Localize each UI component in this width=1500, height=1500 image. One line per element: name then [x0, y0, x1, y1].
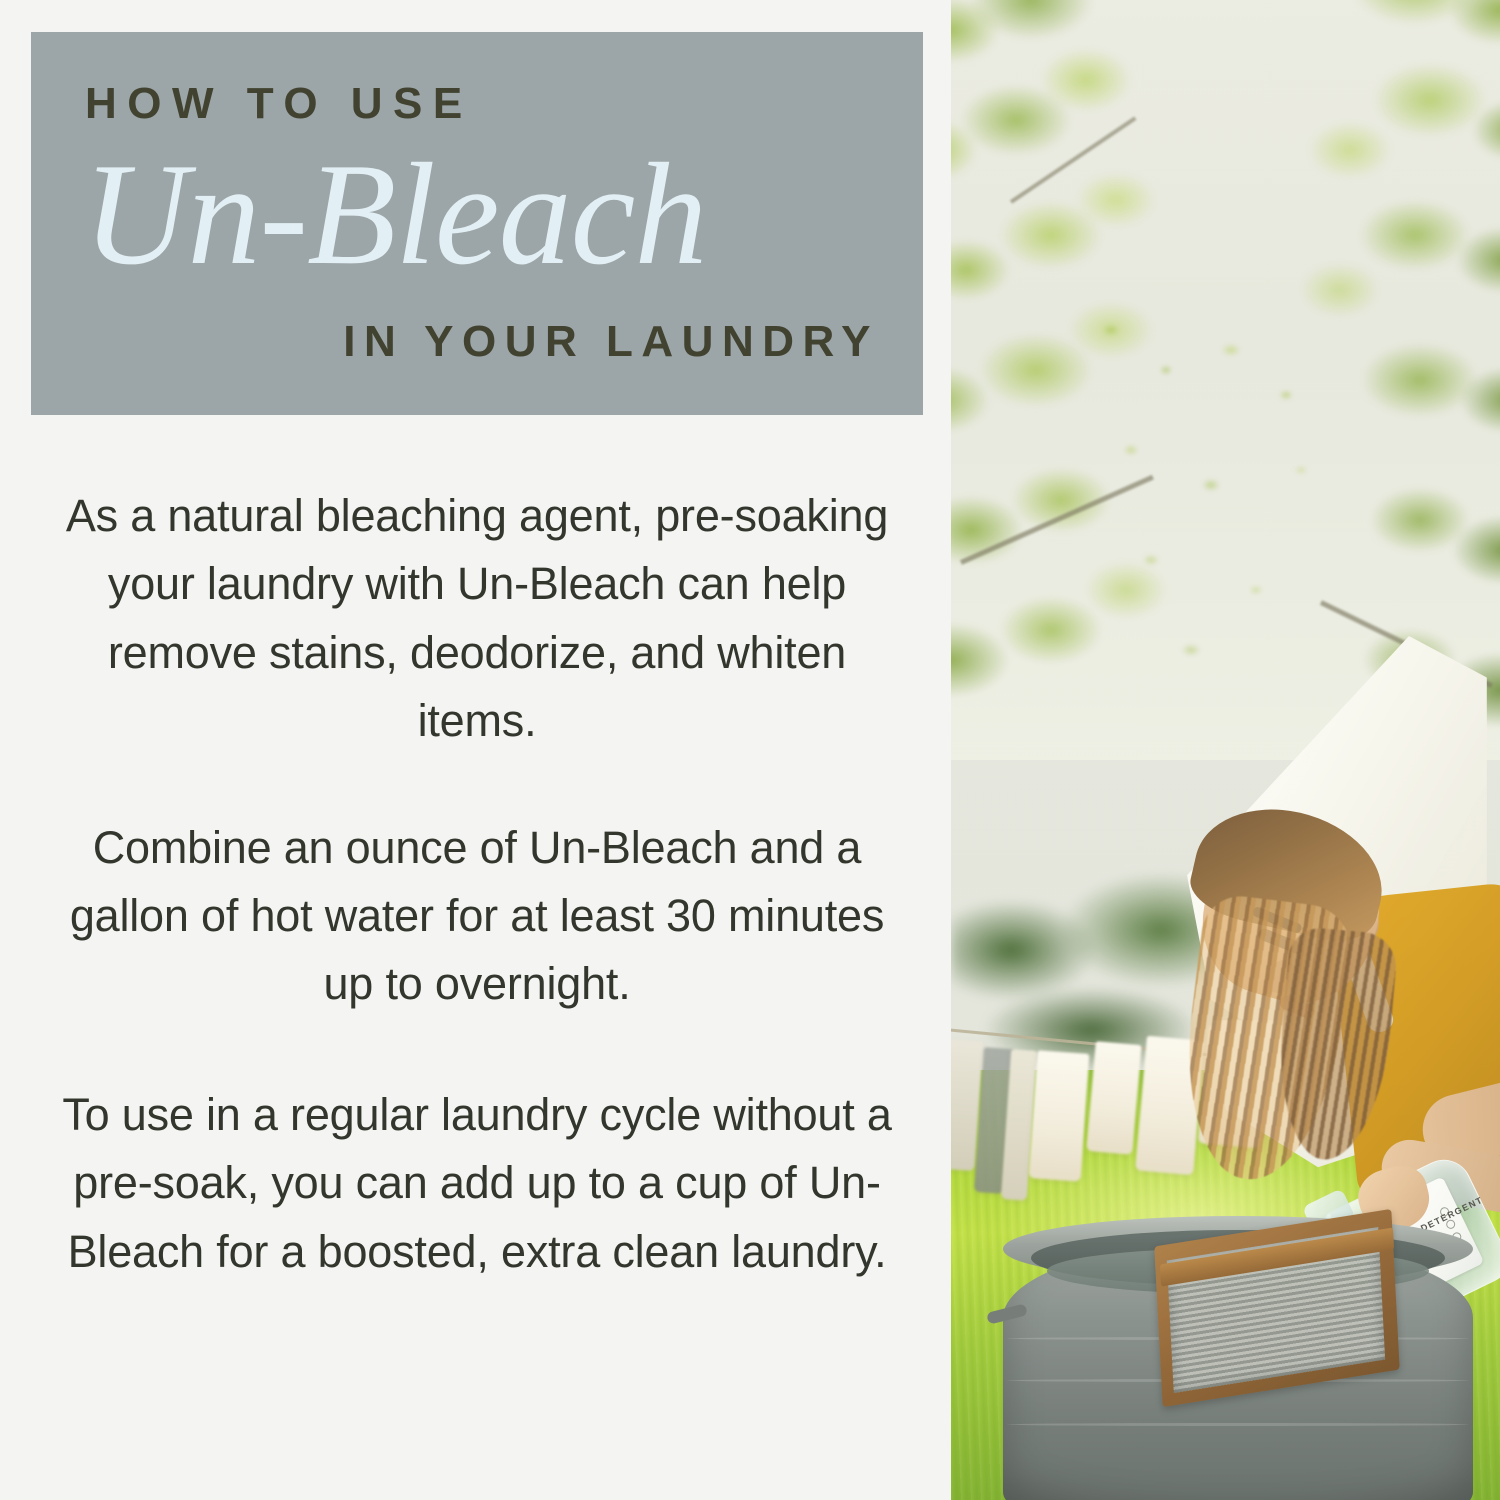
header-subkicker: IN YOUR LAUNDRY	[31, 320, 879, 364]
body-copy: As a natural bleaching agent, pre-soakin…	[44, 482, 910, 1286]
header-banner: HOW TO USE Un-Bleach IN YOUR LAUNDRY	[31, 32, 923, 415]
lifestyle-photo: LAUNDRY DETERGENT	[951, 0, 1500, 1500]
header-kicker: HOW TO USE	[85, 82, 473, 126]
hanging-garment	[1086, 1041, 1141, 1155]
hanging-garment	[1029, 1050, 1090, 1181]
paragraph-3: To use in a regular laundry cycle withou…	[44, 1081, 910, 1286]
washtub-ridge	[1007, 1423, 1469, 1426]
scattered-leaves	[1071, 300, 1391, 720]
paragraph-2: Combine an ounce of Un-Bleach and a gall…	[44, 814, 910, 1019]
text-column: HOW TO USE Un-Bleach IN YOUR LAUNDRY As …	[0, 0, 951, 1500]
infographic-page: HOW TO USE Un-Bleach IN YOUR LAUNDRY As …	[0, 0, 1500, 1500]
page-title: Un-Bleach	[83, 140, 873, 289]
paragraph-1: As a natural bleaching agent, pre-soakin…	[44, 482, 910, 756]
